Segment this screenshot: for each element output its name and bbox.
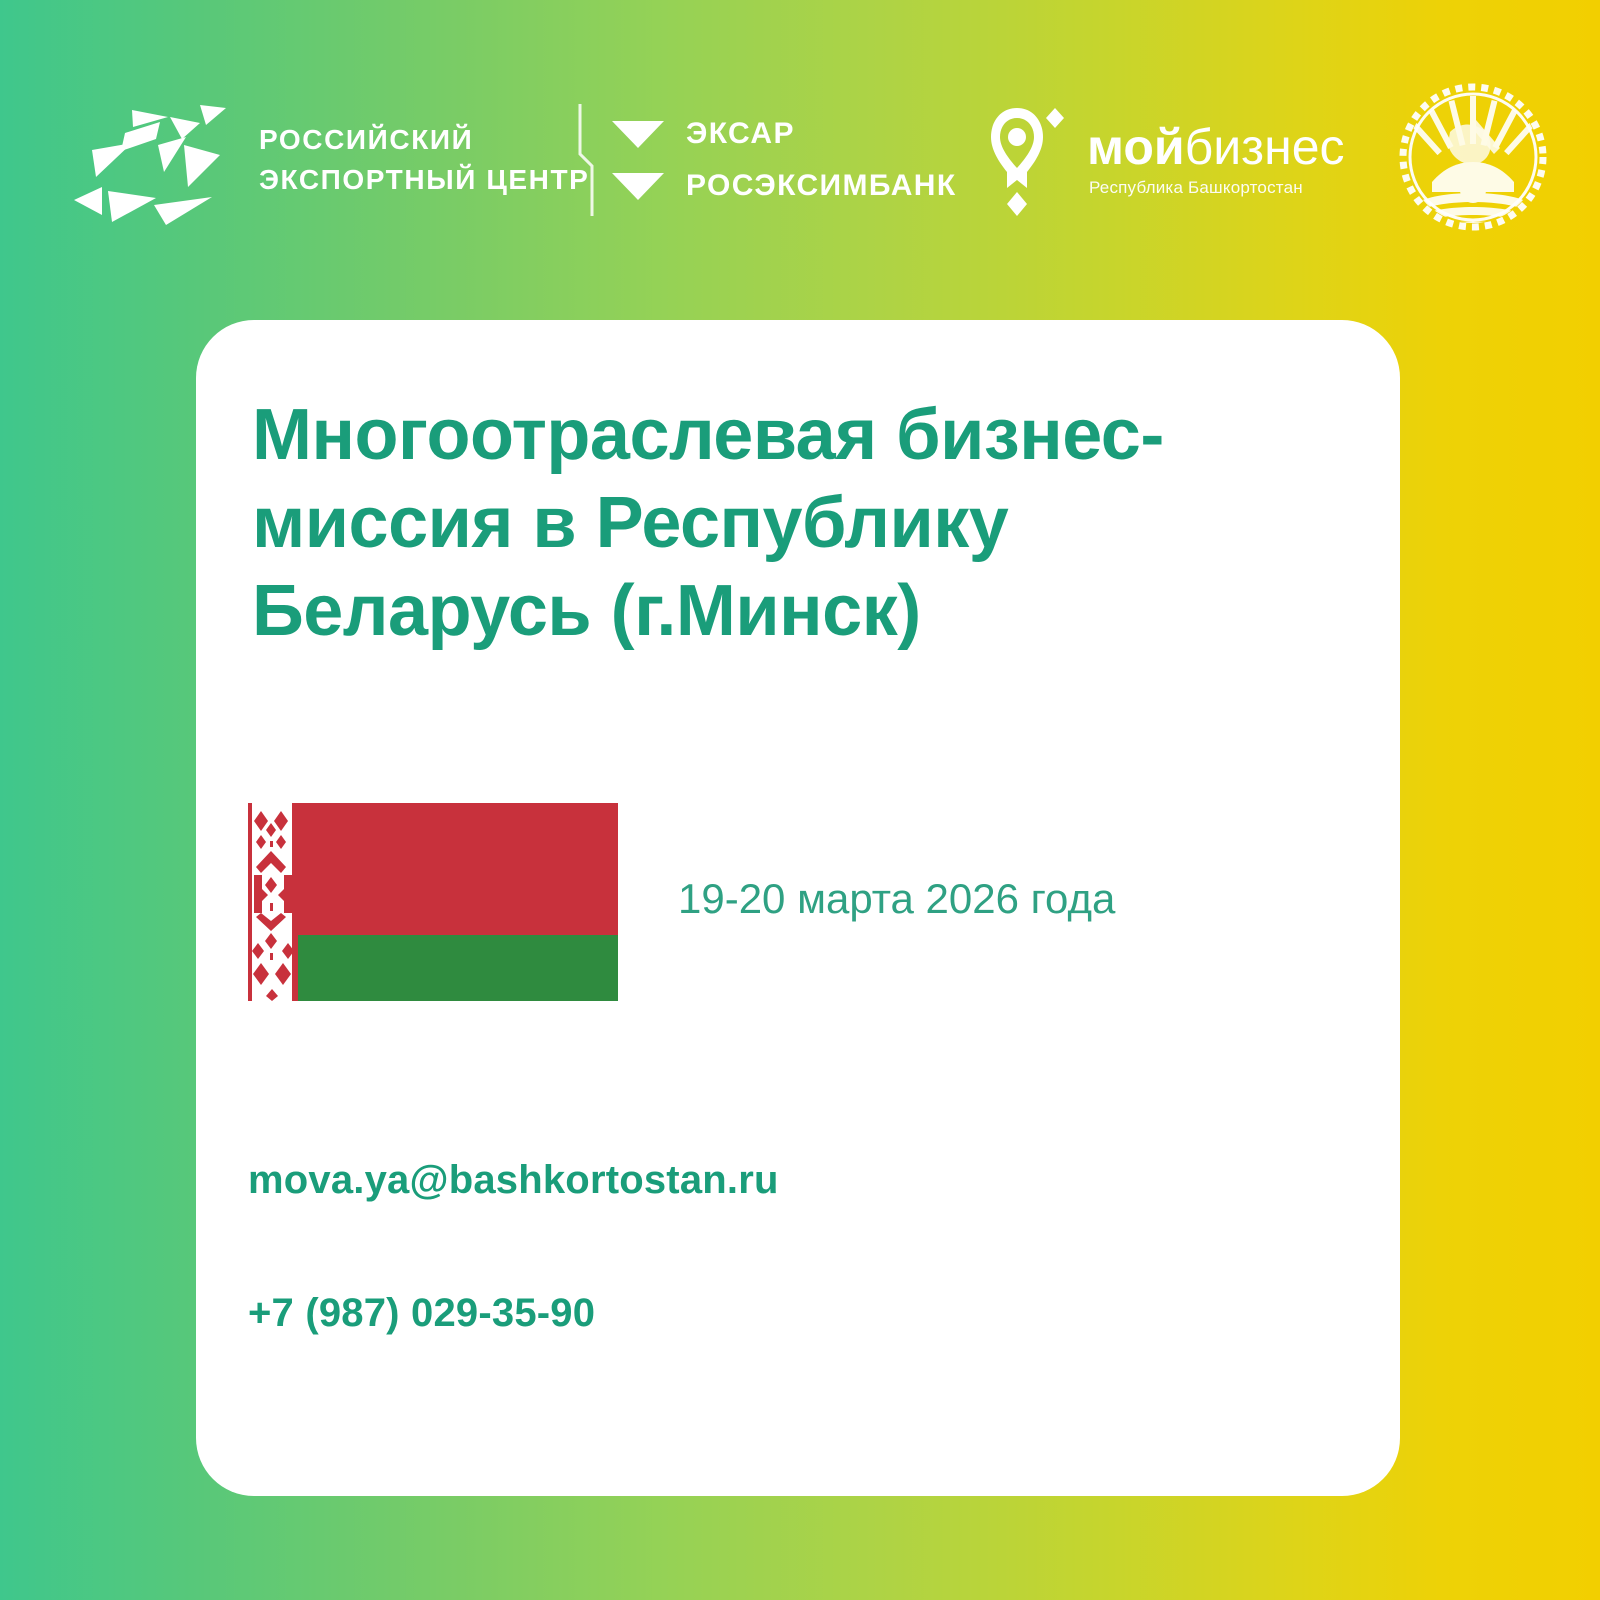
exiar-row: ЭКСАР bbox=[612, 108, 942, 160]
header-logo-bar: РОССИЙСКИЙ ЭКСПОРТНЫЙ ЦЕНТР ЭКСАР РОСЭКС… bbox=[0, 0, 1600, 300]
my-business-word-light: бизнес bbox=[1185, 119, 1345, 175]
rec-line-1: РОССИЙСКИЙ bbox=[259, 120, 589, 160]
event-date: 19-20 марта 2026 года bbox=[678, 875, 1115, 923]
bashkortostan-coat-of-arms-icon bbox=[1388, 72, 1558, 242]
page-title: Многоотраслевая бизнес-миссия в Республи… bbox=[252, 392, 1312, 655]
contacts-block: mova.ya@bashkortostan.ru +7 (987) 029-35… bbox=[248, 1158, 1248, 1336]
exiar-label: ЭКСАР bbox=[686, 117, 795, 151]
roseximbank-row: РОСЭКСИМБАНК bbox=[612, 160, 942, 212]
exiar-roseximbank-logo[interactable]: ЭКСАР РОСЭКСИМБАНК bbox=[612, 108, 942, 213]
rec-wordmark: РОССИЙСКИЙ ЭКСПОРТНЫЙ ЦЕНТР bbox=[259, 120, 589, 200]
card-header-block: Многоотраслевая бизнес-миссия в Республи… bbox=[252, 392, 1344, 655]
my-business-logo[interactable]: мойбизнес Республика Башкортостан bbox=[985, 100, 1315, 220]
belarus-flag-ornament bbox=[248, 803, 298, 1001]
rec-line-2: ЭКСПОРТНЫЙ ЦЕНТР bbox=[259, 160, 589, 200]
map-pin-rocket-icon bbox=[985, 100, 1071, 218]
russian-export-center-logo[interactable]: РОССИЙСКИЙ ЭКСПОРТНЫЙ ЦЕНТР bbox=[72, 95, 562, 225]
roseximbank-label: РОСЭКСИМБАНК bbox=[686, 169, 957, 203]
belarus-flag-icon bbox=[248, 803, 618, 1001]
triangle-down-icon bbox=[612, 173, 664, 200]
my-business-subtitle: Республика Башкортостан bbox=[1089, 178, 1345, 198]
stepped-divider-icon bbox=[570, 100, 610, 220]
my-business-wordmark: мойбизнес bbox=[1087, 122, 1345, 172]
flag-and-date-row: 19-20 марта 2026 года bbox=[248, 803, 1348, 1003]
flag-green-band bbox=[298, 935, 618, 1001]
contact-phone[interactable]: +7 (987) 029-35-90 bbox=[248, 1291, 1248, 1336]
flag-red-band bbox=[298, 803, 618, 935]
my-business-word-bold: мой bbox=[1087, 119, 1185, 175]
content-card: Многоотраслевая бизнес-миссия в Республи… bbox=[196, 320, 1400, 1496]
triangle-down-icon bbox=[612, 121, 664, 148]
contact-email[interactable]: mova.ya@bashkortostan.ru bbox=[248, 1158, 1248, 1203]
rec-triangles-icon bbox=[72, 95, 237, 225]
belarus-flag-bands bbox=[298, 803, 618, 1001]
